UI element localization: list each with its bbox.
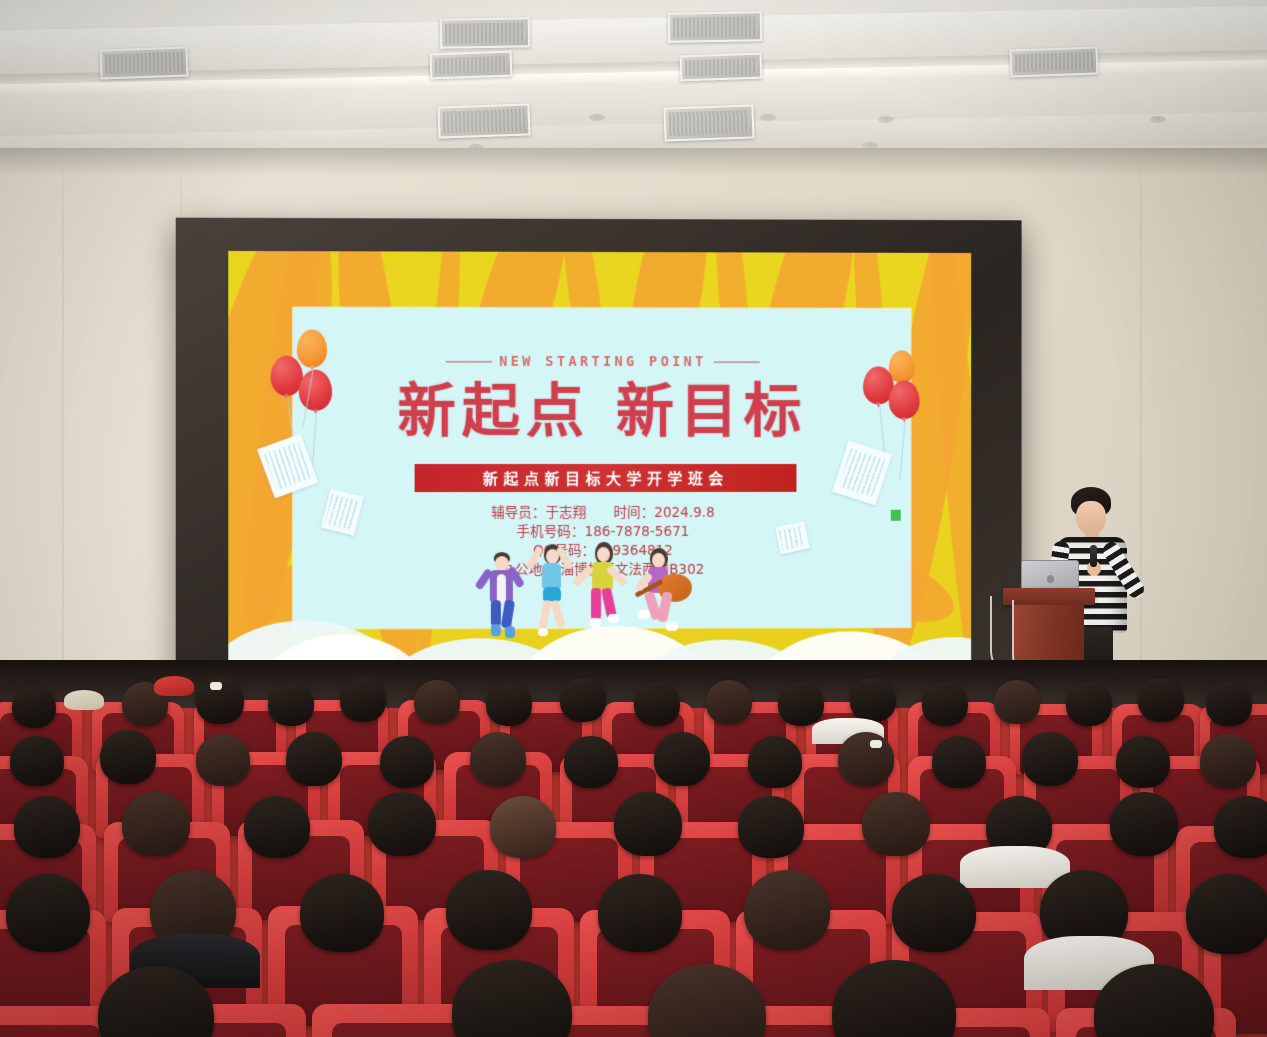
audience-head bbox=[1110, 792, 1178, 856]
audience-head bbox=[268, 682, 314, 726]
green-square-marker bbox=[891, 510, 901, 521]
audience-head bbox=[414, 680, 460, 724]
audience-head bbox=[862, 792, 930, 856]
audience-head bbox=[340, 678, 386, 722]
air-vent-icon bbox=[440, 17, 531, 49]
figure-girl-with-guitar bbox=[636, 548, 694, 638]
eyebrow-text: NEW STARTING POINT bbox=[499, 354, 706, 370]
eyebrow-rule-left bbox=[446, 361, 492, 363]
air-vent-icon bbox=[1010, 46, 1099, 77]
audience-head bbox=[932, 736, 986, 788]
audience-head bbox=[564, 736, 618, 788]
audience-head bbox=[368, 792, 436, 856]
balloon-orange-icon bbox=[297, 329, 327, 367]
air-vent-icon bbox=[680, 53, 763, 82]
audience-head bbox=[560, 678, 606, 722]
audience-head bbox=[1066, 682, 1112, 726]
audience-head bbox=[1206, 682, 1252, 726]
audience-head bbox=[892, 874, 976, 952]
air-vent-icon bbox=[437, 103, 530, 138]
figure-boy-purple-vest bbox=[482, 552, 528, 638]
audience-head bbox=[300, 874, 384, 952]
slide-eyebrow: NEW STARTING POINT bbox=[293, 354, 911, 371]
audience-head bbox=[12, 686, 56, 728]
downlight-icon bbox=[1150, 116, 1166, 123]
hair-clip-icon bbox=[210, 682, 222, 690]
audience-head bbox=[6, 874, 90, 952]
eyebrow-rule-right bbox=[714, 361, 760, 363]
projection-screen: NEW STARTING POINT 新起点 新目标 新起点新目标大学开学班会 … bbox=[228, 251, 971, 687]
audience-head bbox=[838, 732, 894, 786]
ribbon-text: 新起点新目标大学开学班会 bbox=[483, 467, 729, 488]
audience-head bbox=[744, 870, 830, 950]
audience-head bbox=[100, 730, 156, 784]
air-vent-icon bbox=[668, 11, 763, 43]
laptop-logo-icon bbox=[1047, 575, 1054, 583]
microphone-icon bbox=[1090, 545, 1097, 567]
air-vent-icon bbox=[100, 46, 189, 79]
figure-girl-blue-top bbox=[532, 544, 578, 636]
audience-cap-icon bbox=[154, 676, 194, 696]
balloon-red-icon bbox=[299, 370, 332, 411]
wall-top-shadow bbox=[0, 148, 1267, 176]
audience-head bbox=[598, 874, 682, 952]
audience-head bbox=[446, 870, 532, 950]
figure-girl-yellow-top bbox=[582, 542, 630, 636]
audience-head bbox=[1214, 796, 1267, 858]
projection-screen-frame: NEW STARTING POINT 新起点 新目标 新起点新目标大学开学班会 … bbox=[176, 218, 1022, 703]
air-vent-icon bbox=[663, 104, 754, 141]
audience-head bbox=[634, 682, 680, 726]
audience-head bbox=[994, 680, 1040, 724]
audience-head bbox=[490, 796, 556, 858]
audience-head bbox=[1186, 874, 1267, 954]
audience-head bbox=[614, 792, 682, 856]
audience-head bbox=[922, 682, 968, 726]
audience-head bbox=[470, 732, 526, 786]
audience-head bbox=[380, 736, 434, 788]
audience-head bbox=[1116, 736, 1170, 788]
audience-head bbox=[196, 734, 250, 786]
audience-head bbox=[286, 732, 342, 786]
audience-head bbox=[14, 796, 80, 858]
downlight-icon bbox=[589, 114, 605, 121]
info-line-1: 辅导员：于志翔 时间：2024.9.8 bbox=[293, 504, 911, 523]
audience-head bbox=[1200, 734, 1256, 788]
audience-seating bbox=[0, 660, 1267, 1037]
downlight-icon bbox=[878, 116, 894, 123]
audience-head bbox=[1138, 678, 1184, 722]
audience-head bbox=[654, 732, 710, 786]
audience-head bbox=[1022, 732, 1078, 786]
audience-head bbox=[738, 796, 804, 858]
audience-head bbox=[122, 792, 190, 856]
slide-main-title: 新起点 新目标 bbox=[293, 380, 911, 443]
audience-head bbox=[10, 736, 64, 786]
audience-cap-icon bbox=[64, 690, 104, 710]
auditorium-photo: NEW STARTING POINT 新起点 新目标 新起点新目标大学开学班会 … bbox=[0, 0, 1267, 1037]
audience-head bbox=[706, 680, 752, 724]
downlight-icon bbox=[760, 114, 776, 121]
hair-clip-icon bbox=[870, 740, 882, 748]
info-line-2: 手机号码：186-7878-5671 bbox=[293, 523, 911, 543]
audience-head bbox=[778, 682, 824, 726]
audience-head bbox=[850, 678, 896, 722]
audience-head bbox=[244, 796, 310, 858]
balloon-orange-icon bbox=[889, 350, 915, 383]
audience-head bbox=[748, 736, 802, 788]
air-vent-icon bbox=[430, 51, 513, 80]
slide-ribbon-banner: 新起点新目标大学开学班会 bbox=[415, 464, 797, 492]
audience-head bbox=[486, 682, 532, 726]
ceiling bbox=[0, 0, 1267, 152]
balloon-red-icon bbox=[889, 380, 920, 419]
